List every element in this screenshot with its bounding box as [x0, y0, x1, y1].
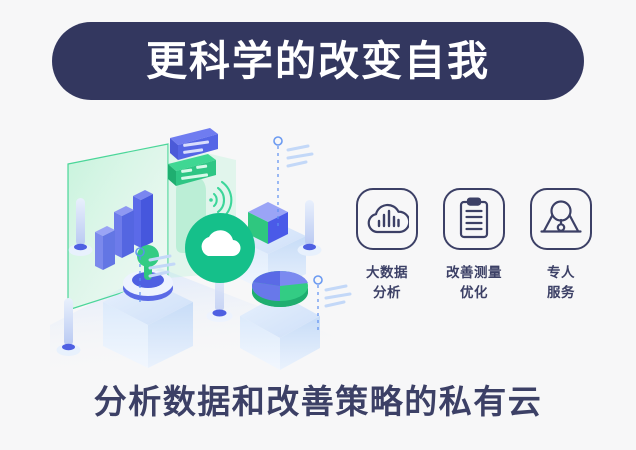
tagline: 分析数据和改善策略的私有云 — [0, 385, 636, 418]
feature-item-big-data[interactable]: 大数据 分析 — [348, 188, 426, 302]
feature-label-line2: 优化 — [446, 283, 502, 303]
feature-label-big-data: 大数据 分析 — [366, 263, 408, 302]
feature-item-measurement[interactable]: 改善测量 优化 — [435, 188, 513, 302]
pie-chart-3d — [252, 271, 308, 307]
feature-item-service[interactable]: 专人 服务 — [522, 188, 600, 302]
feature-label-measurement: 改善测量 优化 — [446, 263, 502, 302]
clipboard-icon — [443, 188, 505, 250]
page-title: 更科学的改变自我 — [146, 41, 490, 82]
poster-canvas: 更科学的改变自我 — [0, 0, 636, 450]
hero-illustration — [40, 120, 360, 370]
cloud-bar-chart-icon — [356, 188, 418, 250]
feature-label-line1: 大数据 — [366, 263, 408, 283]
title-banner: 更科学的改变自我 — [52, 22, 584, 100]
feature-label-line1: 改善测量 — [446, 263, 502, 283]
feature-label-service: 专人 服务 — [547, 263, 575, 302]
feature-label-line2: 服务 — [547, 283, 575, 303]
marker-pin-right — [298, 200, 322, 256]
feature-list: 大数据 分析 改善测量 优化 — [348, 188, 600, 338]
feature-label-line2: 分析 — [366, 283, 408, 303]
feature-label-line1: 专人 — [547, 263, 575, 283]
service-person-icon — [530, 188, 592, 250]
